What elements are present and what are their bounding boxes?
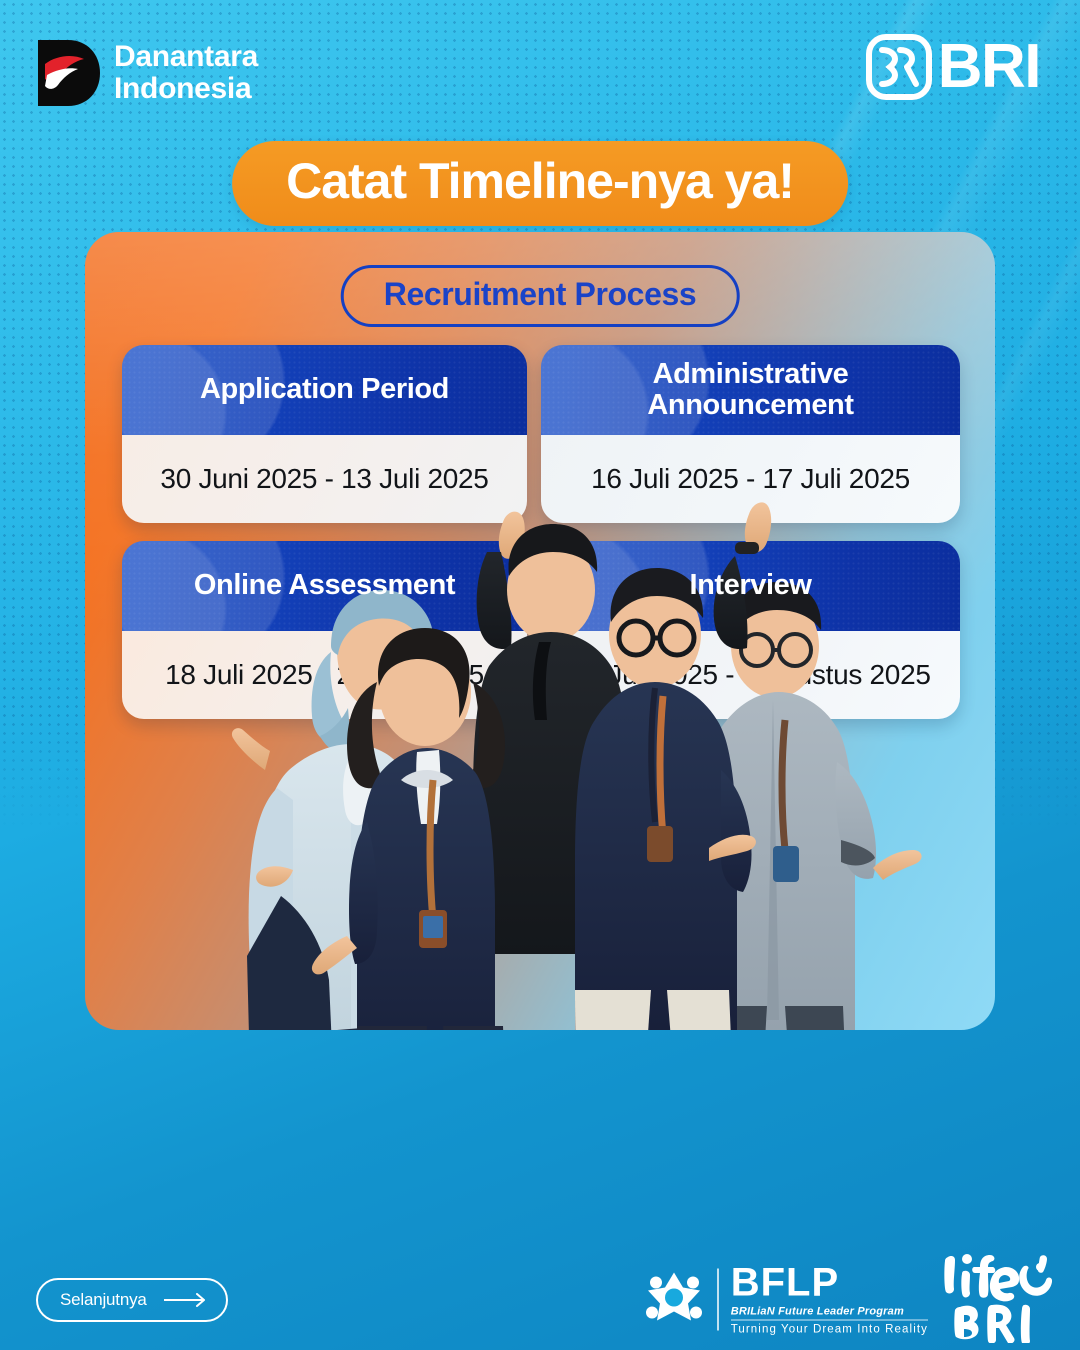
timeline-card-body: 18 Juli 2025 - 20 Juli 2025 — [122, 631, 527, 719]
bflp-textblock: BFLP BRILiaN Future Leader Program Turni… — [731, 1263, 928, 1336]
danantara-logo: Danantara Indonesia — [38, 38, 258, 108]
timeline-panel: Recruitment Process Application Period 3… — [85, 232, 995, 1030]
timeline-card-grid: Application Period 30 Juni 2025 - 13 Jul… — [122, 345, 960, 719]
recruitment-process-label: Recruitment Process — [384, 277, 697, 312]
timeline-card: Online Assessment 18 Juli 2025 - 20 Juli… — [122, 541, 527, 719]
timeline-card: Application Period 30 Juni 2025 - 13 Jul… — [122, 345, 527, 523]
headline-banner: Catat Timeline-nya ya! — [232, 141, 848, 226]
bflp-star-people-logo — [643, 1268, 705, 1330]
danantara-wordmark: Danantara Indonesia — [114, 41, 258, 106]
timeline-card-body: 16 Juli 2025 - 17 Juli 2025 — [541, 435, 960, 523]
timeline-card-body: 30 Juni 2025 - 13 Juli 2025 — [122, 435, 527, 523]
timeline-card-title: Application Period — [186, 374, 463, 405]
bri-logo: BRI — [866, 34, 1040, 100]
bflp-tagline-primary: BRILiaN Future Leader Program — [731, 1306, 928, 1321]
life-at-bri-logo — [940, 1251, 1052, 1343]
timeline-card: Administrative Announcement 16 Juli 2025… — [541, 345, 960, 523]
timeline-card-title: Administrative Announcement — [633, 359, 867, 422]
danantara-d-flag-logo — [38, 38, 100, 108]
timeline-card-date: 18 Juli 2025 - 20 Juli 2025 — [165, 659, 484, 691]
next-button[interactable]: Selanjutnya — [36, 1278, 228, 1322]
bflp-title: BFLP — [731, 1263, 928, 1303]
poster-canvas: Danantara Indonesia BRI Catat Timeline-n… — [0, 0, 1080, 1350]
timeline-card-date: 24 Juli 2025 - 8 Agustus 2025 — [570, 659, 930, 691]
timeline-card-header: Application Period — [122, 345, 527, 435]
bflp-logo: BFLP BRILiaN Future Leader Program Turni… — [643, 1263, 928, 1336]
timeline-card-header: Online Assessment — [122, 541, 527, 631]
timeline-card: Interview 24 Juli 2025 - 8 Agustus 2025 — [541, 541, 960, 719]
timeline-card-body: 24 Juli 2025 - 8 Agustus 2025 — [541, 631, 960, 719]
timeline-card-date: 30 Juni 2025 - 13 Juli 2025 — [160, 463, 488, 495]
timeline-card-title: Interview — [675, 570, 825, 601]
bflp-tagline-secondary: Turning Your Dream Into Reality — [731, 1324, 928, 1336]
timeline-card-title: Online Assessment — [180, 570, 469, 601]
bflp-divider — [717, 1268, 719, 1330]
recruitment-process-badge: Recruitment Process — [341, 265, 740, 327]
timeline-card-header: Interview — [541, 541, 960, 631]
timeline-card-date: 16 Juli 2025 - 17 Juli 2025 — [591, 463, 910, 495]
bri-monogram-logo — [866, 34, 932, 100]
headline-text: Catat Timeline-nya ya! — [286, 155, 794, 208]
timeline-card-header: Administrative Announcement — [541, 345, 960, 435]
next-button-label: Selanjutnya — [60, 1290, 147, 1310]
arrow-right-icon — [164, 1293, 208, 1307]
bri-wordmark: BRI — [938, 36, 1040, 98]
